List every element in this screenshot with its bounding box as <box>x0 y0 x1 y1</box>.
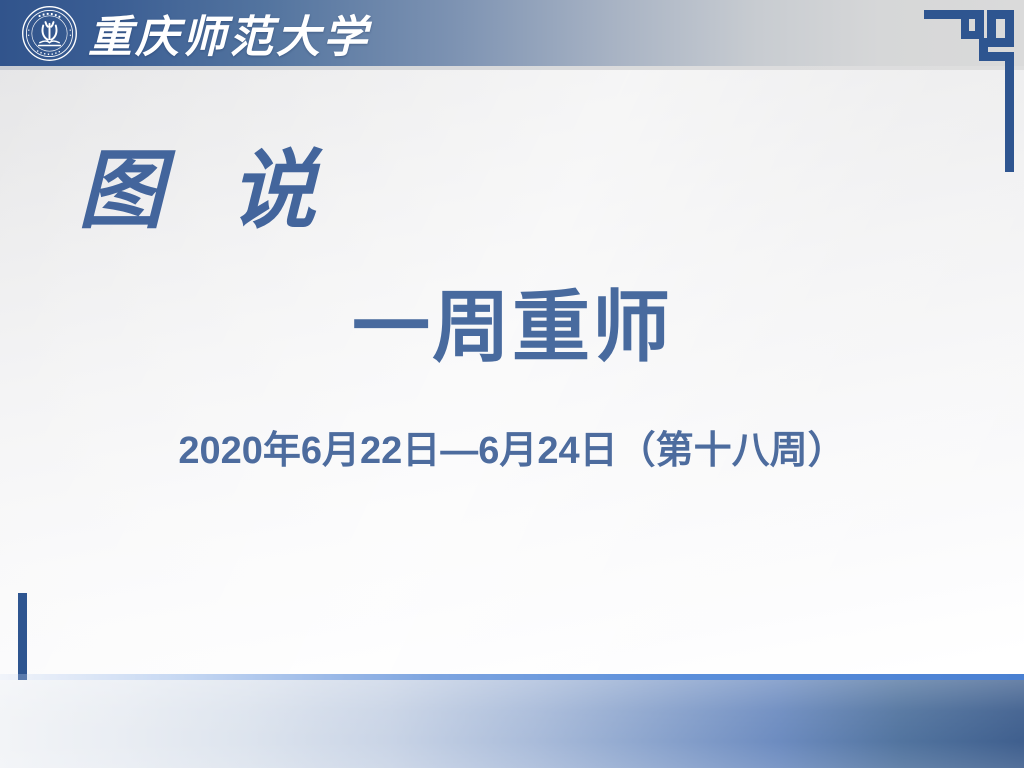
chinese-meander-corner-icon-top-right <box>924 0 1024 172</box>
date-range-label: 2020年6月22日—6月24日（第十八周） <box>0 432 1024 470</box>
header-underline <box>0 66 1024 70</box>
page-headline: 一周重师 <box>0 288 1024 366</box>
slide-canvas: 重庆师范大学 <box>0 0 1024 768</box>
university-name: 重庆师范大学 <box>88 4 370 62</box>
university-seal-icon <box>21 5 78 62</box>
page-title-brush: 图 说 <box>78 148 334 234</box>
background-sheen <box>0 0 1024 768</box>
footer-band <box>0 680 1024 768</box>
